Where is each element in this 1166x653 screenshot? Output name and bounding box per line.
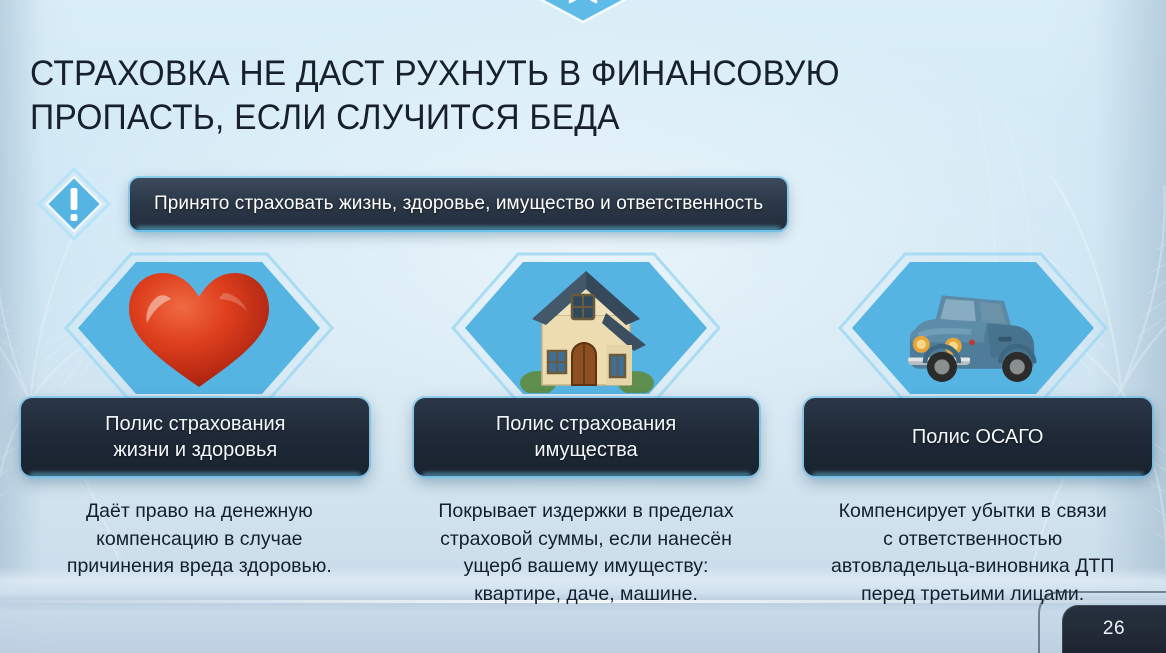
slide-root: СТРАХОВКА НЕ ДАСТ РУХНУТЬ В ФИНАНСОВУЮ П… (0, 0, 1166, 653)
card-description: Компенсирует убытки в связи с ответствен… (795, 498, 1150, 609)
exclamation-diamond-icon (36, 166, 112, 242)
callout-text: Принято страховать жизнь, здоровье, имущ… (154, 193, 763, 215)
house-icon (506, 263, 666, 393)
slide-number: 26 (1103, 618, 1125, 640)
heart-icon (119, 263, 279, 393)
card-osago[interactable]: Полис ОСАГО Компенсирует убытки в связи … (779, 252, 1166, 609)
star-icon (562, 0, 604, 2)
hexagon-badge (451, 252, 721, 404)
slide-number-badge: 26 (1062, 605, 1166, 653)
card-description: Даёт право на денежную компенсацию в слу… (22, 498, 377, 581)
car-icon (893, 263, 1053, 393)
callout-bar: Принято страховать жизнь, здоровье, имущ… (130, 178, 787, 230)
cards-container: Полис страхования жизни и здоровья Даёт … (0, 252, 1166, 609)
hexagon-badge (838, 252, 1108, 404)
hexagon-badge (64, 252, 334, 404)
card-title-plate: Полис страхования жизни и здоровья (21, 398, 369, 476)
card-life-health[interactable]: Полис страхования жизни и здоровья Даёт … (6, 252, 393, 609)
page-title: СТРАХОВКА НЕ ДАСТ РУХНУТЬ В ФИНАНСОВУЮ П… (30, 52, 952, 140)
star-banner-decoration (475, 0, 691, 32)
card-title: Полис страхования имущества (496, 411, 676, 463)
card-property[interactable]: Полис страхования имущества Покрывает из… (393, 252, 780, 609)
card-title: Полис страхования жизни и здоровья (105, 411, 285, 463)
card-description: Покрывает издержки в пределах страховой … (409, 498, 764, 609)
card-title-plate: Полис ОСАГО (804, 398, 1152, 476)
card-title-plate: Полис страхования имущества (414, 398, 759, 476)
card-title: Полис ОСАГО (912, 424, 1044, 450)
callout-row: Принято страховать жизнь, здоровье, имущ… (36, 166, 787, 242)
